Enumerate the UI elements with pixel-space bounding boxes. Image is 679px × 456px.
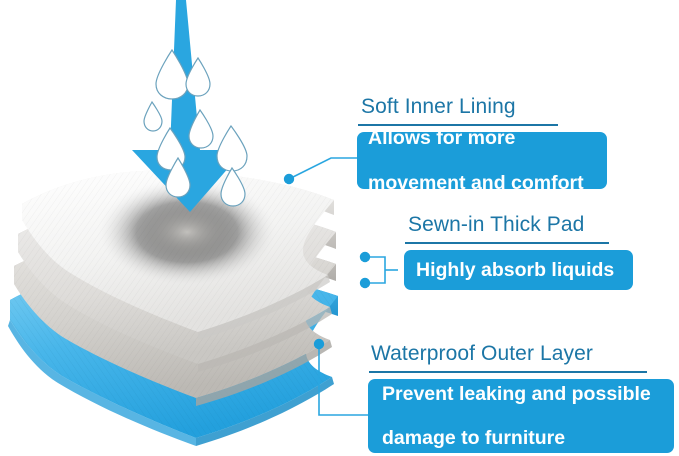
callout-waterproof-outer-layer: Waterproof Outer Layer Prevent leaking a…	[368, 340, 674, 453]
callout-line-2: movement and comfort	[368, 172, 584, 194]
callout-rule-soft-inner-lining	[358, 124, 558, 126]
callout-rule-waterproof-outer-layer	[369, 371, 647, 373]
callout-soft-inner-lining: Soft Inner Lining Allows for more moveme…	[357, 94, 609, 189]
connector-dot-soft-inner-lining	[284, 174, 294, 184]
callout-box-sewn-in-thick-pad: Highly absorb liquids	[404, 250, 633, 290]
connector-dot-waterproof-outer	[314, 339, 324, 349]
callout-sewn-in-thick-pad: Sewn-in Thick Pad Highly absorb liquids	[404, 212, 628, 290]
callout-rule-sewn-in-thick-pad	[405, 242, 609, 244]
connector-sewn-in-thick-pad	[360, 252, 398, 288]
callout-line-2: damage to furniture	[382, 427, 651, 449]
connector-soft-inner-lining	[284, 158, 357, 184]
callout-line-1: Allows for more	[368, 127, 584, 149]
callout-title-soft-inner-lining: Soft Inner Lining	[357, 94, 609, 120]
connector-dot-pad-lower	[360, 278, 370, 288]
callout-box-soft-inner-lining: Allows for more movement and comfort	[357, 132, 607, 189]
callout-title-waterproof-outer-layer: Waterproof Outer Layer	[368, 340, 674, 367]
callout-line-1: Prevent leaking and possible	[382, 383, 651, 405]
callout-box-waterproof-outer-layer: Prevent leaking and possible damage to f…	[368, 379, 674, 453]
callout-title-sewn-in-thick-pad: Sewn-in Thick Pad	[404, 212, 628, 238]
connector-dot-pad-upper	[360, 252, 370, 262]
infographic-canvas: Soft Inner Lining Allows for more moveme…	[0, 0, 679, 456]
callout-line-1: Highly absorb liquids	[416, 259, 614, 281]
